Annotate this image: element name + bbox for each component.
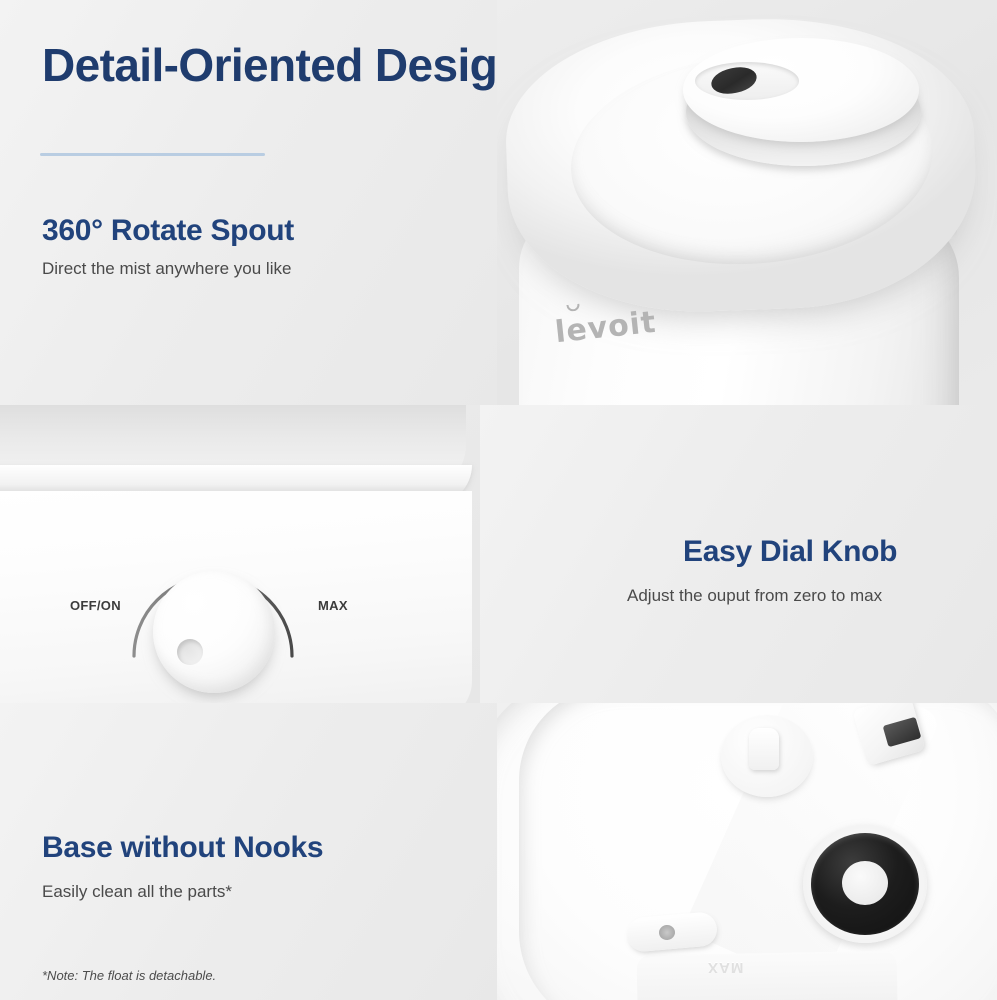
title-divider [40, 153, 265, 156]
footnote: *Note: The float is detachable. [42, 968, 216, 983]
panel-header-and-feature-one: Detail-Oriented Designs 360° Rotate Spou… [0, 0, 520, 405]
feature-two-heading: Easy Dial Knob [683, 535, 897, 569]
feature-three-subtext: Easily clean all the parts* [42, 882, 232, 902]
product-feature-infographic: Detail-Oriented Designs 360° Rotate Spou… [0, 0, 997, 1000]
dial-min-label: OFF/ON [70, 598, 121, 613]
dial-knob[interactable] [153, 571, 275, 693]
feature-two-subtext: Adjust the ouput from zero to max [627, 586, 882, 606]
feature-one-subtext: Direct the mist anywhere you like [42, 259, 291, 279]
feature-one-heading: 360° Rotate Spout [42, 214, 294, 248]
detachable-float-post [749, 728, 779, 770]
feature-three-heading: Base without Nooks [42, 831, 323, 865]
knob-indicator-dimple [177, 639, 203, 665]
max-fill-line-label: MAX [707, 959, 743, 976]
dial-max-label: MAX [318, 598, 348, 613]
transducer-disc [842, 861, 888, 905]
photo-rotate-spout: levoit [497, 0, 997, 405]
photo-dial-knob [0, 405, 480, 703]
base-fill-shelf [637, 951, 898, 1000]
page-title: Detail-Oriented Designs [42, 38, 520, 92]
photo-base-without-nooks: MAX [497, 703, 997, 1000]
